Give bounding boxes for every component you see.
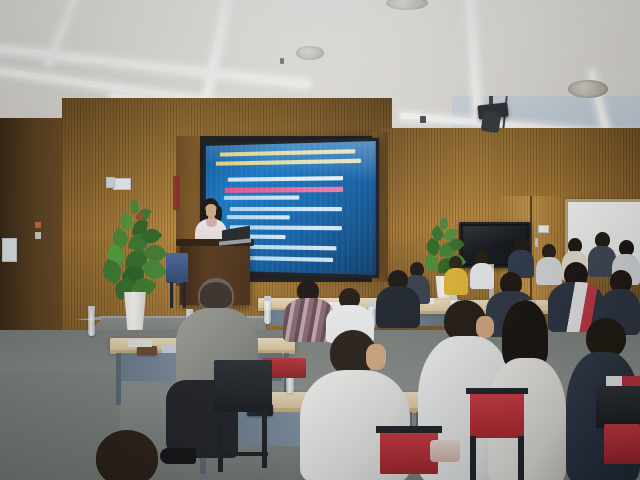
chair-dark[interactable] — [214, 360, 272, 412]
attendee — [376, 270, 420, 326]
attendee — [508, 236, 534, 276]
wall-marker-red — [173, 176, 180, 210]
conference-room-photo — [0, 0, 640, 480]
wall-sign-left — [106, 177, 115, 188]
chair-frame-leg — [262, 410, 267, 468]
chair-frame-leg — [470, 436, 476, 480]
chair-frame-leg — [518, 436, 524, 480]
wall-sign-door-left — [2, 238, 17, 262]
stage-chair-leg — [170, 282, 173, 308]
handbag — [430, 440, 460, 462]
plant-pot-left — [122, 292, 148, 334]
presenter-collar — [206, 219, 217, 227]
attendee — [444, 256, 468, 294]
wall-sign-center — [113, 178, 131, 190]
chair-frame-rail — [218, 452, 268, 456]
potted-plant-left — [100, 200, 170, 340]
wall-plate-b — [35, 232, 41, 239]
chair-frame-leg — [218, 410, 223, 472]
water-bottle — [264, 300, 271, 324]
wall-plate-a — [35, 222, 41, 228]
chair-dark[interactable] — [596, 386, 640, 428]
papers — [128, 340, 152, 347]
door-sign — [538, 225, 549, 233]
chair-frame — [376, 426, 442, 433]
attendee — [86, 430, 176, 480]
chair-frame — [466, 388, 528, 394]
chair-red[interactable] — [470, 392, 524, 438]
water-bottle — [88, 310, 95, 336]
smartphone[interactable] — [137, 346, 157, 355]
projector-head — [481, 111, 502, 133]
chair-red[interactable] — [604, 424, 640, 464]
